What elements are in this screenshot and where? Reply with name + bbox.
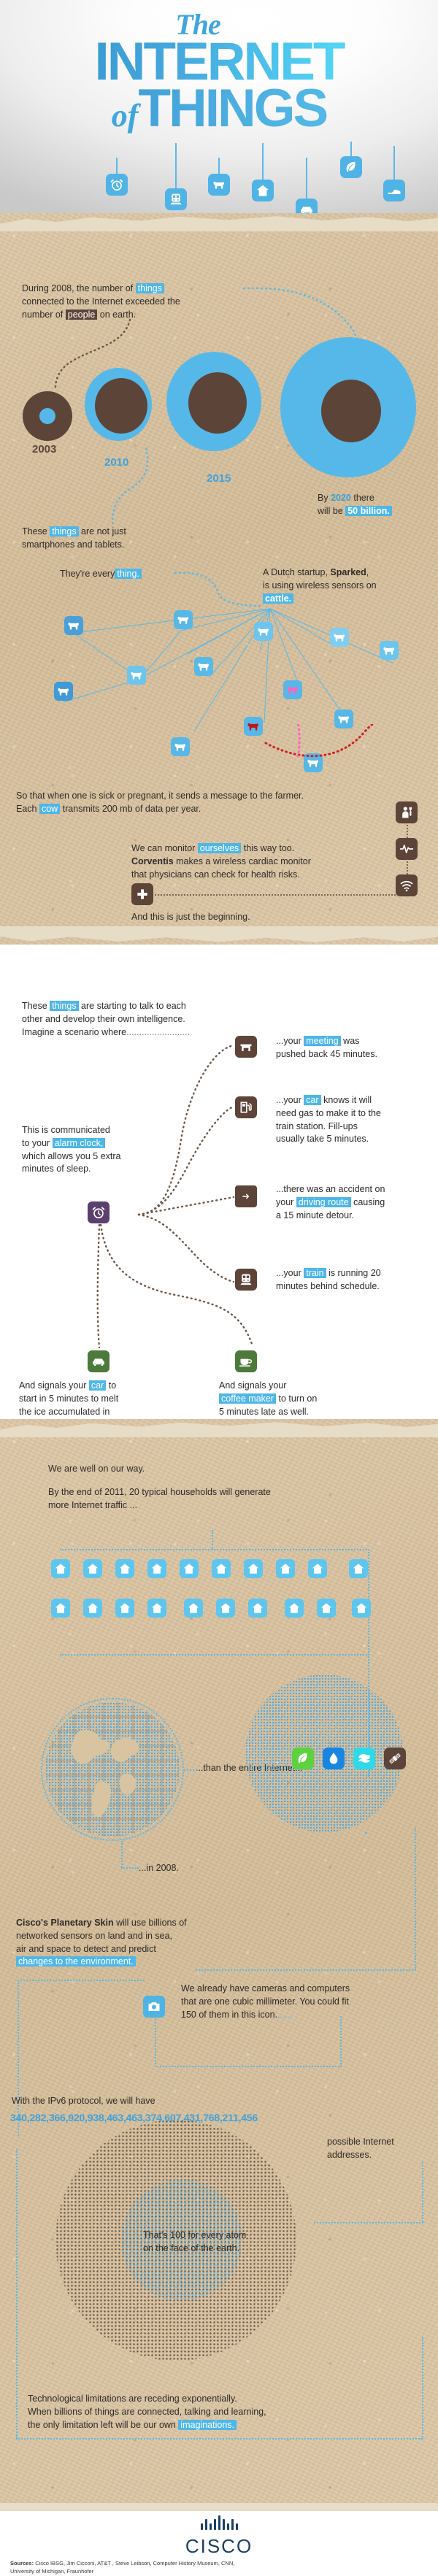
cow-node — [254, 622, 273, 641]
ipv6-number: 340,282,366,920,938,463,463,374,607,431,… — [10, 2112, 434, 2124]
corventis-text: We can monitor ourselves this way too. C… — [131, 842, 401, 881]
bubble-2020-inner — [321, 380, 381, 442]
detour-line2a: your — [276, 1197, 296, 1207]
cow-node — [330, 628, 349, 647]
possible-addresses-text: possible Internet addresses. — [327, 2136, 429, 2162]
closing-text: Technological limitations are receding e… — [28, 2393, 422, 2431]
notjust-b: are not just — [79, 526, 126, 537]
closing-frame-right — [422, 2337, 423, 2439]
alarm-to-devices-connectors — [73, 1223, 292, 1359]
detour-line1: ...there was an accident on — [276, 1184, 385, 1194]
sources-line1: Cisco IBSG, Jim Cicconi, AT&T , Steve Le… — [34, 2560, 234, 2567]
water-drop-icon — [323, 1748, 345, 1769]
beginning-text: And this is just the beginning. — [131, 911, 365, 924]
sick-pregnant-text: So that when one is sick or pregnant, it… — [16, 790, 425, 816]
globe-connector — [184, 1769, 197, 1771]
closing-line2: When billions of things are connected, t… — [28, 2407, 266, 2417]
scenario-a: These — [22, 1001, 50, 1011]
house-node — [180, 1559, 199, 1578]
cisco-logo: CISCO — [0, 2515, 438, 2558]
icon-string — [350, 142, 352, 156]
cow-icon — [208, 174, 230, 196]
cow-node — [127, 666, 146, 685]
planetary-line2: networked sensors on land and in sea, — [16, 1931, 172, 1941]
monitor-line2b: makes a wireless cardiac monitor — [174, 856, 311, 866]
hero-section: The INTERNET ofTHINGS — [0, 0, 438, 219]
cow-node-pink — [283, 680, 302, 699]
by2020-year: 2020 — [331, 493, 351, 503]
by2020-b: there — [351, 493, 374, 503]
house-node — [147, 1599, 166, 1618]
in-2008-text: ...in 2008. — [139, 1862, 285, 1875]
sick-line1: So that when one is sick or pregnant, it… — [16, 791, 304, 801]
planet-spacer — [365, 1832, 366, 1834]
well-on-our-way-text: We are well on our way. — [48, 1463, 355, 1476]
icon-string — [116, 158, 118, 174]
sources-text: Sources: Cisco IBSG, Jim Cicconi, AT&T ,… — [10, 2559, 419, 2576]
farmer-icon — [396, 801, 418, 823]
scenario-b: are starting to talk to each — [79, 1001, 186, 1011]
highlight-things-3: things — [50, 1001, 78, 1011]
highlight-ourselves: ourselves — [198, 843, 242, 853]
highlight-changes-environment: changes to the environment. — [16, 1956, 136, 1966]
car-gas-b: knows it will — [321, 1095, 372, 1105]
cow-node — [380, 641, 399, 660]
house-node — [216, 1599, 235, 1618]
car-icon — [88, 1350, 109, 1372]
house-node — [244, 1559, 263, 1578]
car-gas-line2: need gas to make it to the — [276, 1108, 381, 1118]
bubble-2010-inner — [95, 378, 147, 434]
cisco-wordmark: CISCO — [0, 2535, 438, 2558]
meeting-line2: pushed back 45 minutes. — [276, 1049, 377, 1059]
highlight-train: train — [304, 1268, 326, 1278]
corventis-brand: Corventis — [131, 856, 174, 866]
planetary-line3: air and space to detect and predict — [16, 1944, 156, 1954]
camera-connector-left — [18, 1980, 145, 1981]
infographic-page: The INTERNET ofTHINGS — [0, 0, 438, 2576]
house-node — [212, 1559, 231, 1578]
icon-string — [175, 143, 177, 188]
planetary-skin-title: Cisco's Planetary Skin — [16, 1918, 114, 1928]
hanging-icon-shoe — [383, 146, 405, 201]
highlight-alarm-clock: alarm clock, — [53, 1138, 106, 1148]
globe-down-connector — [121, 1841, 123, 1867]
hanging-icon-cow — [208, 158, 230, 196]
atom-line1: That's 100 for every atom — [143, 2230, 246, 2240]
house-node — [147, 1559, 166, 1578]
camera-line1: We already have cameras and computers — [181, 1983, 350, 1993]
everything-a: They're every — [60, 569, 115, 579]
connector-2010-to-things — [73, 447, 161, 527]
alarm-clock-icon — [106, 174, 128, 196]
title-of-things: ofTHINGS — [0, 84, 438, 134]
house-node — [352, 1599, 371, 1618]
cow-node — [54, 682, 73, 701]
monitor-line3: that physicians can check for health ris… — [131, 869, 300, 880]
household-traffic-text: By the end of 2011, 20 typical household… — [48, 1486, 413, 1512]
icon-string — [306, 158, 307, 199]
monitor-b: this way too. — [241, 843, 294, 853]
house-node — [115, 1599, 134, 1618]
house-node — [276, 1559, 295, 1578]
atom-line2: on the face of the earth. — [143, 2243, 239, 2253]
highlight-thing: thing. — [115, 569, 142, 579]
camera-connector-up — [340, 2016, 342, 2067]
globe-grid-overlay — [45, 1702, 180, 1837]
house-node — [184, 1599, 203, 1618]
highlight-50-billion: 50 billion. — [345, 506, 392, 516]
chip-connector — [407, 861, 408, 874]
house-node — [285, 1599, 304, 1618]
hanging-icons-row — [0, 128, 438, 219]
bubble-2015-inner — [188, 372, 247, 434]
hanging-icon-house — [252, 143, 274, 201]
meeting-a: ...your — [276, 1036, 304, 1046]
alarm-line4: minutes of sleep. — [22, 1164, 91, 1174]
wave-icon — [353, 1748, 375, 1769]
highlight-driving-route: driving route — [296, 1197, 351, 1207]
hanging-icon-car — [296, 158, 318, 220]
highlight-meeting: meeting — [304, 1036, 340, 1046]
paper-panel-growth-cattle: During 2008, the number of things connec… — [0, 213, 438, 945]
detour-line3: a 15 minute detour. — [276, 1210, 354, 1220]
cow-node — [174, 610, 193, 629]
scenario-line2: other and develop their own intelligence… — [22, 1014, 185, 1024]
alert-trails — [255, 724, 423, 797]
closing-frame-left — [16, 2149, 18, 2438]
train-text: ...your train is running 20 minutes behi… — [276, 1267, 433, 1293]
sources-line2: University of Michigan, Fraunhofer — [10, 2568, 93, 2575]
coffee-line1: And signals your — [219, 1380, 286, 1391]
sick-line2b: transmits 200 mb of data per year. — [60, 804, 201, 814]
house-node — [349, 1559, 368, 1578]
camera-connector-h2 — [155, 2066, 342, 2067]
sick-line2a: Each — [16, 804, 39, 814]
closing-line3a: the only limitation left will be our own — [28, 2420, 178, 2430]
leaf-icon — [292, 1748, 314, 1769]
house-node — [317, 1599, 336, 1618]
car-gas-text: ...your car knows it will need gas to ma… — [276, 1094, 433, 1146]
carsignal-a: And signals your — [19, 1380, 89, 1391]
by2020-c: will be — [318, 506, 345, 516]
house-icon — [252, 180, 274, 201]
icon-string — [393, 146, 395, 180]
camera-line2: that are one cubic millimeter. You could… — [181, 1996, 349, 2007]
icon-string — [262, 143, 264, 180]
coffee-line1b: to turn on — [276, 1393, 317, 1404]
traffic-line1: By the end of 2011, 20 typical household… — [48, 1487, 271, 1497]
highlight-imaginations: imaginations. — [178, 2420, 237, 2430]
addresses-connector-v — [422, 2162, 423, 2222]
sparked-line2: is using wireless sensors on — [263, 580, 377, 591]
year-label-2015: 2015 — [207, 472, 231, 485]
house-node — [115, 1559, 134, 1578]
highlight-things: things — [136, 283, 164, 293]
sparked-brand: Sparked — [330, 567, 366, 577]
coffee-cup-icon — [235, 1350, 257, 1372]
house-node — [83, 1599, 102, 1618]
addresses-line1: possible Internet — [327, 2137, 394, 2147]
planetary-skin-text: Cisco's Planetary Skin will use billions… — [16, 1917, 264, 1969]
by-2020-text: By 2020 there will be 50 billion. — [318, 492, 434, 518]
sparked-b: , — [366, 567, 369, 577]
by2020-a: By — [318, 493, 331, 503]
sparked-a: A Dutch startup, — [263, 567, 330, 577]
house-node — [51, 1599, 70, 1618]
sources-label: Sources: — [10, 2560, 34, 2567]
cross-to-wifi-connector — [155, 894, 396, 896]
cow-node — [171, 737, 190, 756]
highlight-cow: cow — [39, 804, 60, 814]
cubic-mm-text: We already have cameras and computers th… — [181, 1983, 422, 2021]
monitor-a: We can monitor — [131, 843, 198, 853]
scenario-section: These things are starting to talk to eac… — [0, 945, 438, 1423]
house-node — [51, 1559, 70, 1578]
camera-icon — [143, 1996, 165, 2018]
highlight-things-2: things — [50, 526, 78, 537]
carsignal-line3: the ice accumulated in — [19, 1407, 109, 1417]
meeting-text: ...your meeting was pushed back 45 minut… — [276, 1035, 433, 1061]
house-node — [308, 1559, 327, 1578]
carsignal-line2: start in 5 minutes to melt — [19, 1393, 118, 1404]
not-just-phones-text: These things are not just smartphones an… — [22, 526, 241, 552]
detour-text: ...there was an accident on your driving… — [276, 1183, 433, 1222]
alarm-line2a: to your — [22, 1138, 53, 1148]
title-internet: INTERNET — [0, 39, 438, 84]
planetary-connector-v — [415, 1828, 416, 1971]
coffee-signal-text: And signals your coffee maker to turn on… — [219, 1380, 387, 1418]
closing-frame-bottom — [16, 2438, 422, 2439]
notjust-a: These — [22, 526, 50, 537]
hanging-icon-alarm-clock — [106, 158, 128, 196]
highlight-car-2: car — [89, 1380, 106, 1391]
train-b: is running 20 — [326, 1268, 381, 1278]
traffic-line2: more Internet traffic ... — [48, 1500, 137, 1510]
shoe-icon — [383, 180, 405, 201]
year-label-2003: 2003 — [32, 443, 56, 455]
notjust-line2: smartphones and tablets. — [22, 539, 124, 550]
icon-string — [218, 158, 220, 174]
cisco-bars-icon — [201, 2515, 238, 2530]
car-gas-line4: usually take 5 minutes. — [276, 1134, 369, 1144]
house-bracket-bottom — [60, 1654, 369, 1656]
ipv6-lead-text: With the IPv6 protocol, we will have — [12, 2095, 318, 2108]
addresses-line2: addresses. — [327, 2150, 372, 2160]
satellite-icon — [384, 1748, 406, 1769]
house-node — [83, 1559, 102, 1578]
highlight-car: car — [304, 1095, 320, 1105]
house-bracket-top — [60, 1549, 369, 1550]
car-gas-a: ...your — [276, 1095, 304, 1105]
footer-section: CISCO Sources: Cisco IBSG, Jim Cicconi, … — [0, 2511, 438, 2576]
cow-node — [64, 616, 83, 635]
coffee-line2: 5 minutes late as well. — [219, 1407, 309, 1417]
intro-text-line2: connected to the Internet exceeded the — [22, 296, 180, 307]
highlight-coffee-maker: coffee maker — [219, 1393, 276, 1404]
alarm-line1: This is communicated — [22, 1125, 110, 1135]
addresses-connector-h — [314, 2222, 423, 2223]
meeting-b: was — [341, 1036, 360, 1046]
bubble-2003-inner — [39, 408, 55, 424]
hanging-icon-leaf — [340, 142, 362, 178]
paper-panel-scale: We are well on our way. By the end of 20… — [0, 1419, 438, 2521]
planetary-connector-h — [196, 1969, 416, 1971]
intro-text-a: During 2008, the number of — [22, 283, 136, 293]
house-bracket-stem — [212, 1530, 213, 1550]
closing-line1: Technological limitations are receding e… — [28, 2394, 237, 2404]
page-title: The INTERNET ofTHINGS — [0, 10, 438, 134]
train-icon — [165, 188, 187, 210]
planetary-line1b: will use billions of — [114, 1918, 187, 1928]
camera-line3: 150 of them in this icon. — [181, 2010, 277, 2020]
chip-connector — [407, 825, 408, 838]
cow-node — [194, 657, 213, 676]
in2008-connector — [121, 1867, 139, 1869]
hanging-icon-train — [165, 143, 187, 210]
medical-cross-icon — [131, 883, 153, 905]
house-node — [248, 1599, 267, 1618]
detour-line2b: causing — [351, 1197, 385, 1207]
atom-text: That's 100 for every atom on the face of… — [143, 2229, 362, 2256]
car-gas-line3: train station. Fill-ups — [276, 1121, 358, 1131]
carsignal-b: to — [106, 1380, 116, 1391]
leaf-icon — [340, 156, 362, 178]
camera-connector-down — [155, 2019, 156, 2067]
